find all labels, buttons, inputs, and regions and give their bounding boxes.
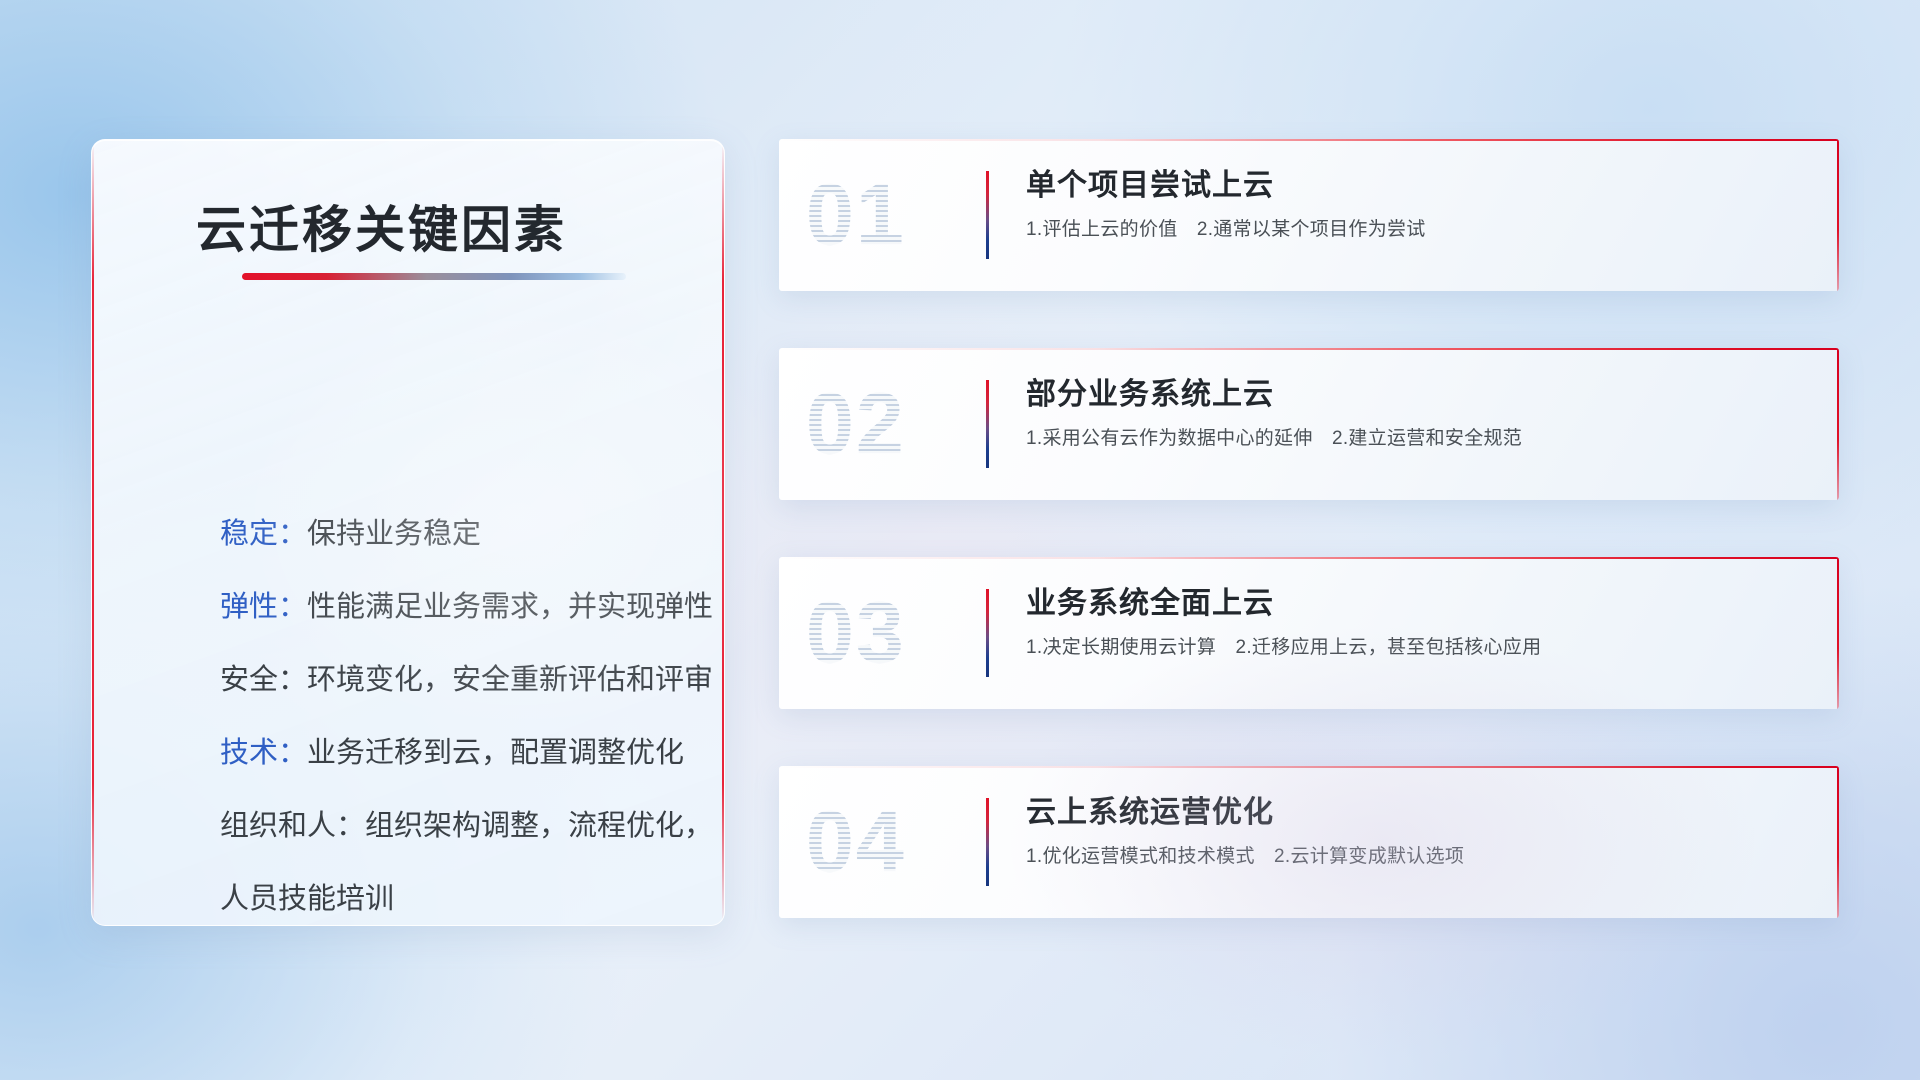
stage-description: 1.采用公有云作为数据中心的延伸 2.建立运营和安全规范 <box>1026 428 1815 451</box>
list-item: 人员技能培训 <box>220 885 684 914</box>
stage-description: 1.决定长期使用云计算 2.迁移应用上云，甚至包括核心应用 <box>1026 637 1815 660</box>
stage-panel-01[interactable]: 01 单个项目尝试上云 1.评估上云的价值 2.通常以某个项目作为尝试 <box>779 139 1839 291</box>
list-item-label: 组织和人： <box>220 810 365 842</box>
stage-number: 03 <box>806 583 962 683</box>
stage-title: 部分业务系统上云 <box>1026 378 1815 411</box>
list-item-text: 保持业务稳定 <box>307 518 481 550</box>
slide-canvas: 云迁移关键因素 稳定：保持业务稳定 弹性：性能满足业务需求，并实现弹性 安全：环… <box>0 0 1920 1080</box>
stage-panel-02[interactable]: 02 部分业务系统上云 1.采用公有云作为数据中心的延伸 2.建立运营和安全规范 <box>779 348 1839 500</box>
page-title: 云迁移关键因素 <box>196 190 567 262</box>
stage-divider-line <box>986 171 989 259</box>
stage-title: 单个项目尝试上云 <box>1026 169 1815 202</box>
list-item: 稳定：保持业务稳定 <box>220 520 684 549</box>
list-item: 弹性：性能满足业务需求，并实现弹性 <box>220 593 684 622</box>
list-item: 安全：环境变化，安全重新评估和评审 <box>220 666 684 695</box>
list-item-label: 稳定： <box>220 518 307 550</box>
stage-divider-line <box>986 589 989 677</box>
list-item-label: 弹性： <box>220 591 307 623</box>
list-item: 技术：业务迁移到云，配置调整优化 <box>220 739 684 768</box>
stage-number: 01 <box>806 165 962 265</box>
list-item: 组织和人：组织架构调整，流程优化， <box>220 812 684 841</box>
stage-description: 1.优化运营模式和技术模式 2.云计算变成默认选项 <box>1026 846 1815 869</box>
list-item-text: 人员技能培训 <box>220 883 394 915</box>
migration-stage-panels: 01 单个项目尝试上云 1.评估上云的价值 2.通常以某个项目作为尝试 02 部… <box>779 139 1839 918</box>
list-item-text: 组织架构调整，流程优化， <box>365 810 713 842</box>
stage-body: 部分业务系统上云 1.采用公有云作为数据中心的延伸 2.建立运营和安全规范 <box>1026 378 1815 451</box>
stage-number: 02 <box>806 374 962 474</box>
list-item-label: 安全： <box>220 664 307 696</box>
stage-divider-line <box>986 380 989 468</box>
stage-title: 业务系统全面上云 <box>1026 587 1815 620</box>
stage-body: 业务系统全面上云 1.决定长期使用云计算 2.迁移应用上云，甚至包括核心应用 <box>1026 587 1815 660</box>
list-item-text: 性能满足业务需求，并实现弹性 <box>307 591 713 623</box>
stage-panel-03[interactable]: 03 业务系统全面上云 1.决定长期使用云计算 2.迁移应用上云，甚至包括核心应… <box>779 557 1839 709</box>
stage-title: 云上系统运营优化 <box>1026 796 1815 829</box>
stage-body: 单个项目尝试上云 1.评估上云的价值 2.通常以某个项目作为尝试 <box>1026 169 1815 242</box>
stage-panel-04[interactable]: 04 云上系统运营优化 1.优化运营模式和技术模式 2.云计算变成默认选项 <box>779 766 1839 918</box>
stage-number: 04 <box>806 792 962 892</box>
list-item-text: 业务迁移到云，配置调整优化 <box>307 737 684 769</box>
stage-body: 云上系统运营优化 1.优化运营模式和技术模式 2.云计算变成默认选项 <box>1026 796 1815 869</box>
stage-divider-line <box>986 798 989 886</box>
list-item-label: 技术： <box>220 737 307 769</box>
title-underline-rule <box>242 273 626 280</box>
stage-description: 1.评估上云的价值 2.通常以某个项目作为尝试 <box>1026 219 1815 242</box>
key-factors-card: 云迁移关键因素 稳定：保持业务稳定 弹性：性能满足业务需求，并实现弹性 安全：环… <box>91 139 725 926</box>
key-factors-list: 稳定：保持业务稳定 弹性：性能满足业务需求，并实现弹性 安全：环境变化，安全重新… <box>220 520 684 914</box>
list-item-text: 环境变化，安全重新评估和评审 <box>307 664 713 696</box>
